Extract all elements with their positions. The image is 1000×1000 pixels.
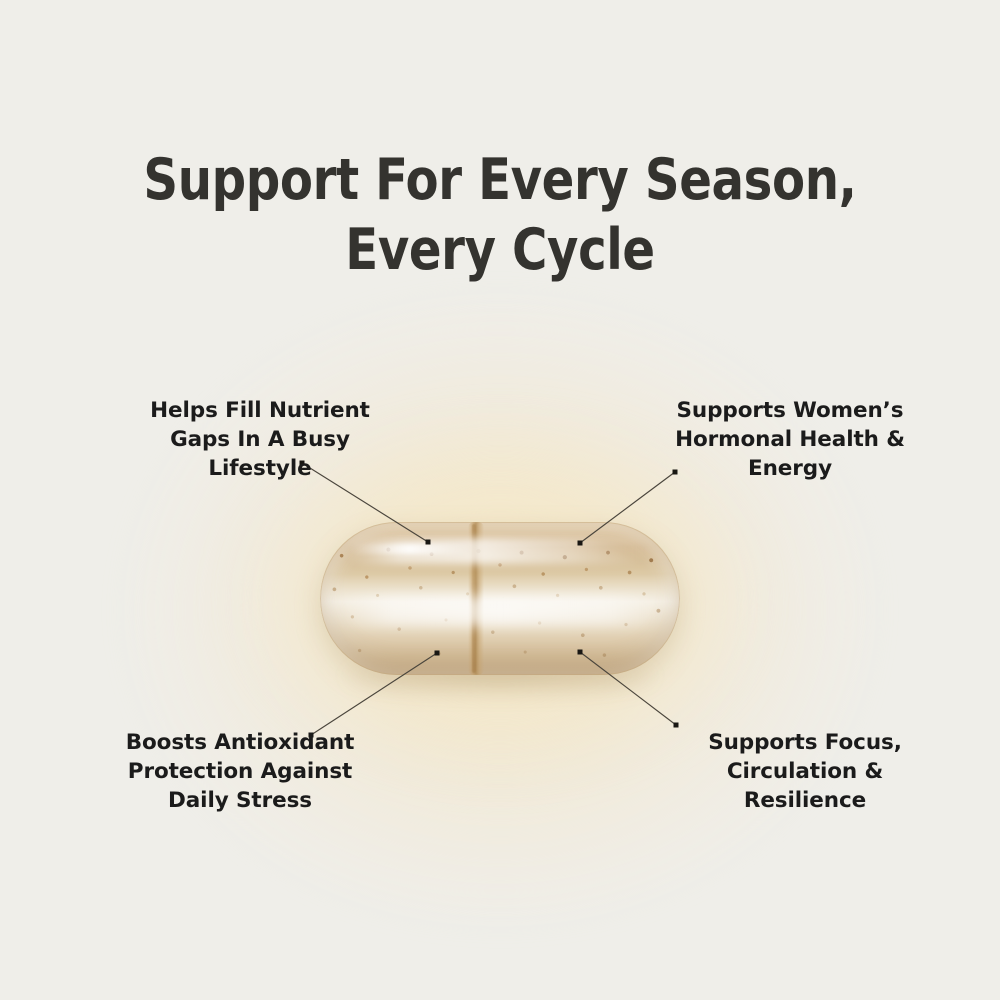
- capsule-image: [320, 522, 680, 675]
- capsule-body: [320, 522, 680, 675]
- callout-boosts-antioxidant-protection: Boosts Antioxidant Protection Against Da…: [40, 728, 440, 815]
- product-infographic-poster: Support For Every Season, Every Cycle He…: [0, 0, 1000, 1000]
- leader-dot-bottom-right-start: [674, 723, 679, 728]
- callout-helps-fill-nutrient-gaps: Helps Fill Nutrient Gaps In A Busy Lifes…: [60, 396, 460, 483]
- capsule-rim: [320, 522, 680, 675]
- callout-supports-womens-hormonal-health: Supports Women’s Hormonal Health & Energ…: [625, 396, 955, 483]
- page-title: Support For Every Season, Every Cycle: [30, 145, 970, 285]
- callout-supports-focus-circulation: Supports Focus, Circulation & Resilience: [640, 728, 970, 815]
